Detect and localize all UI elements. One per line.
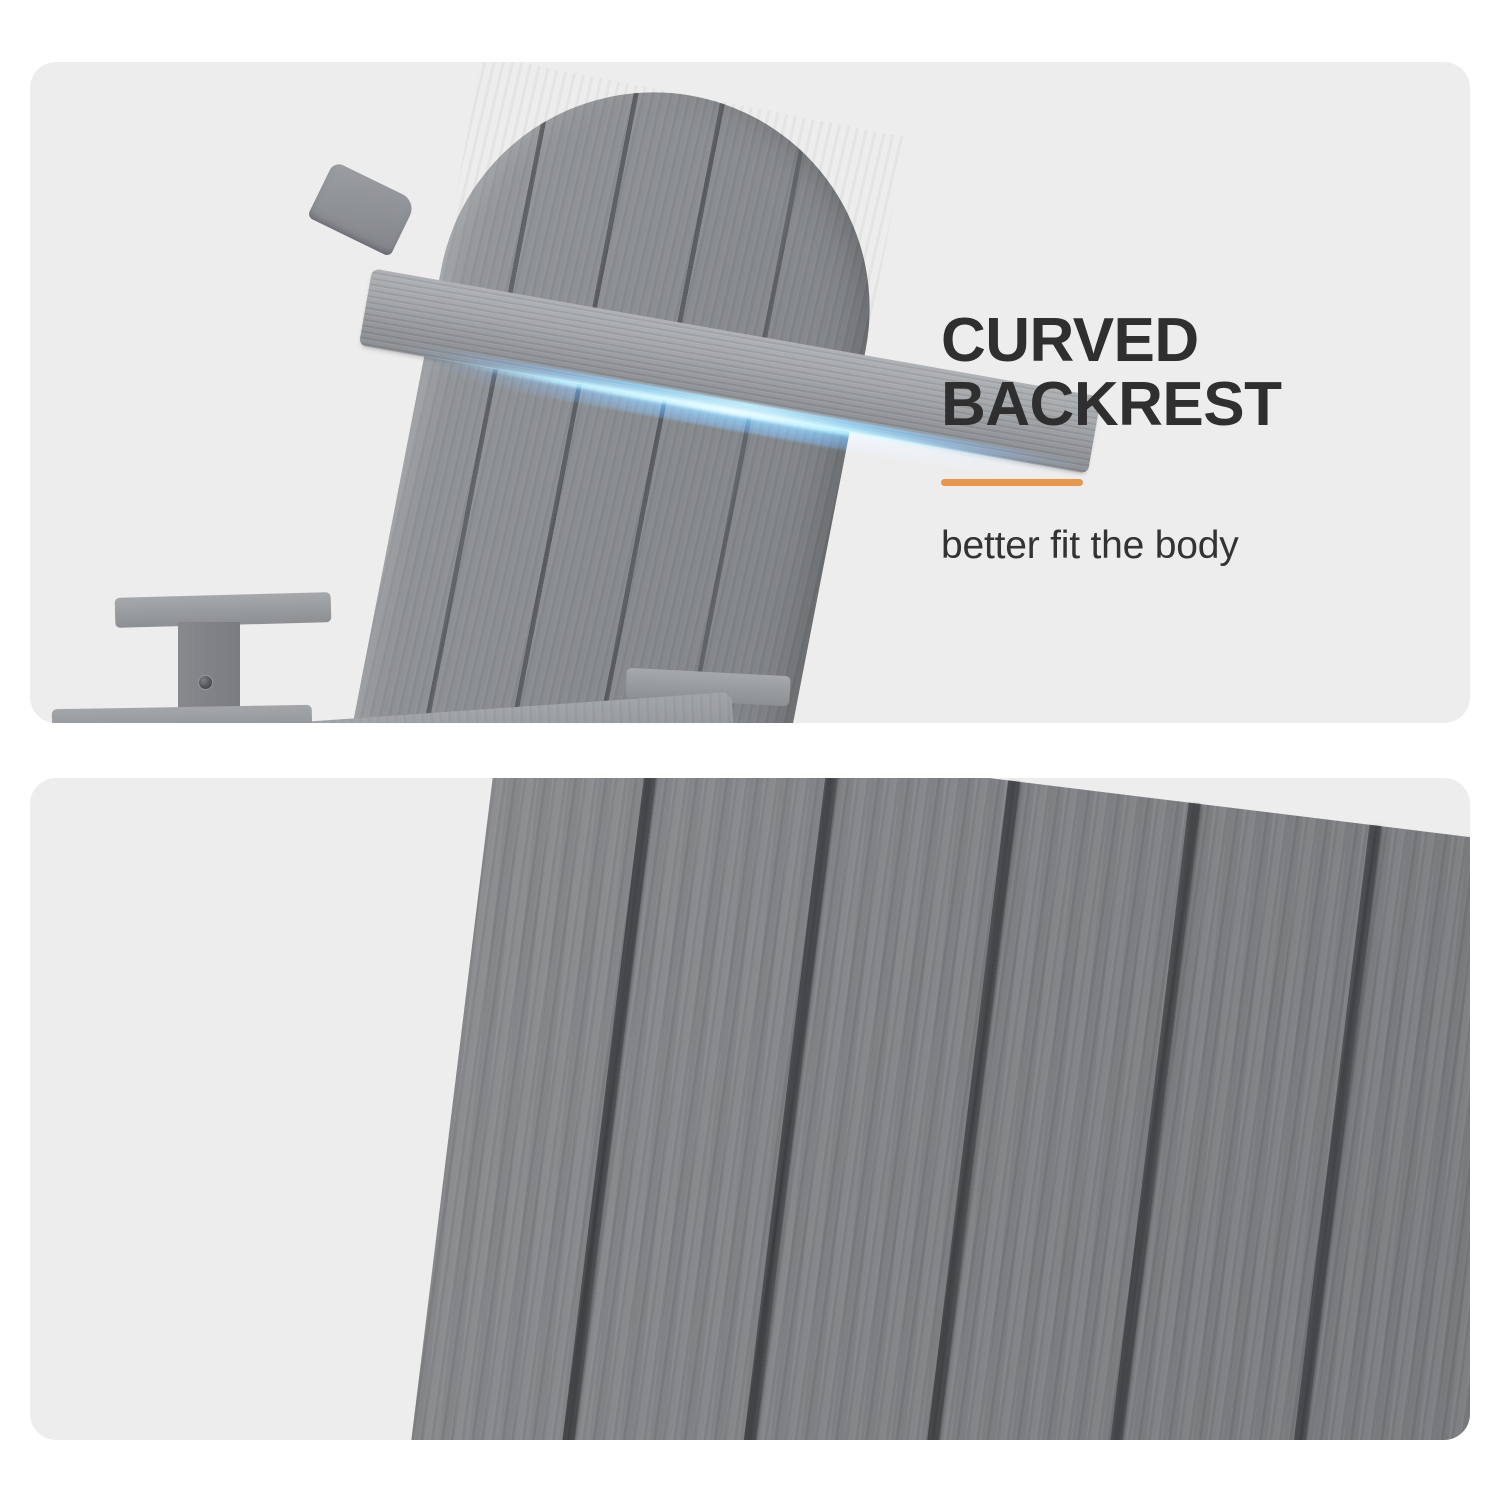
panel-copy-curved-backrest: CURVED BACKREST better fit the body [941,309,1461,568]
left-seat-edge [52,705,313,723]
backrest-slat-wall [393,778,1470,1440]
screw-head [199,676,212,689]
backrest-shoulder-nub [307,161,417,257]
marketing-image-board: CURVED BACKREST better fit the body [0,0,1500,1500]
chair-armrest-illustration [30,778,1470,1440]
feature-panel-curved-backrest: CURVED BACKREST better fit the body [30,62,1470,723]
panel-subhead: better fit the body [941,524,1461,568]
panel-headline: CURVED BACKREST [941,309,1461,437]
accent-divider [941,479,1083,486]
wood-grain-texture [393,778,1470,1440]
feature-panel-wide-armrests: WIDE ARMRESTS for better arm relaxation [30,778,1470,1440]
